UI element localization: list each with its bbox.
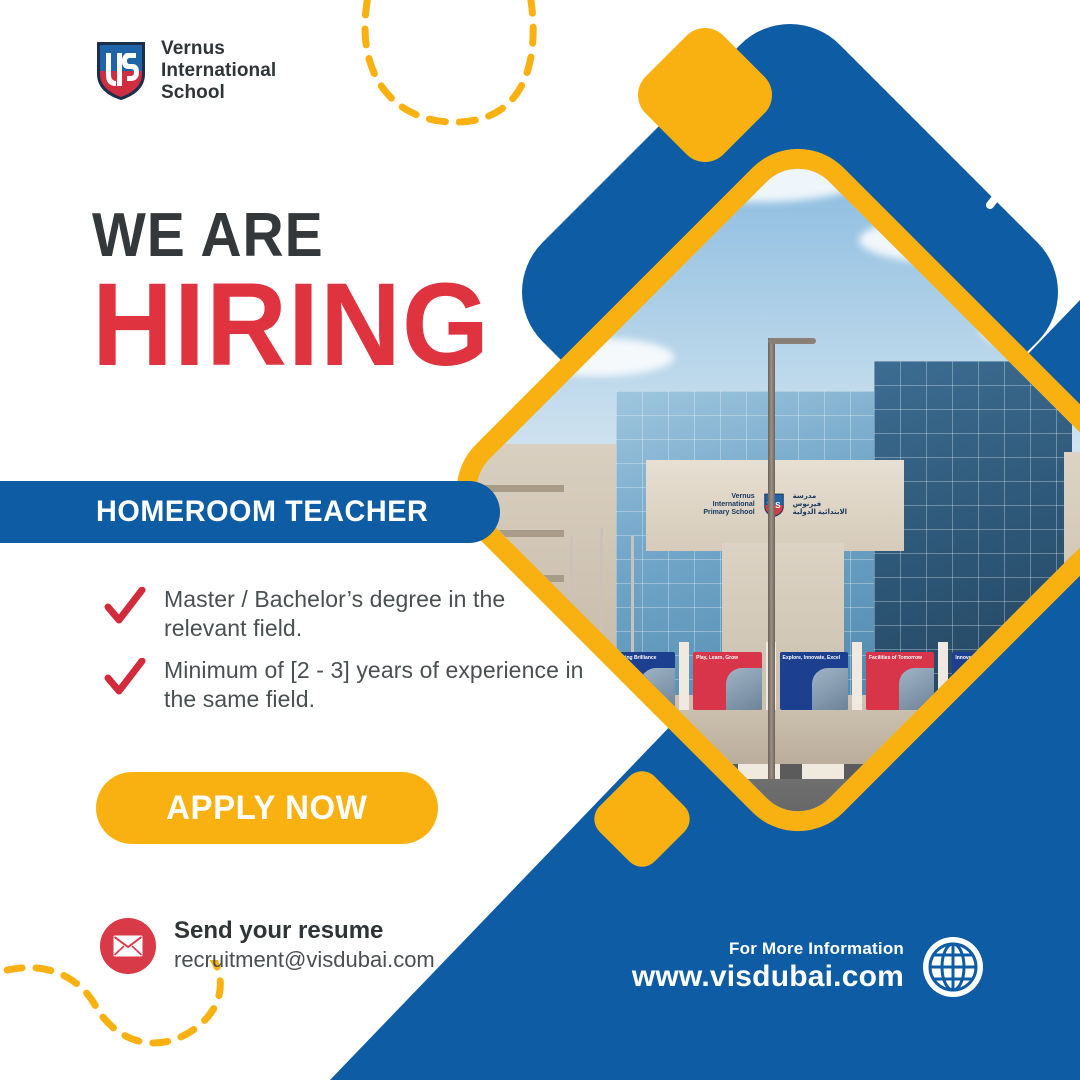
flag-pole (600, 528, 603, 703)
requirements-list: Master / Bachelor’s degree in the releva… (104, 585, 584, 727)
brand-name-line3: School (161, 82, 276, 104)
road (430, 779, 1080, 858)
check-icon (104, 587, 146, 627)
list-item: Master / Bachelor’s degree in the releva… (104, 585, 584, 644)
fence-banner: Innovate, Create, Educate (952, 652, 1020, 711)
globe-icon (922, 936, 984, 998)
brand-name-line2: International (161, 60, 276, 82)
website-contact: For More Information www.visdubai.com (632, 936, 984, 998)
website-label: For More Information (632, 940, 904, 959)
website-texts: For More Information www.visdubai.com (632, 940, 904, 994)
brand-name: Vernus International School (161, 38, 276, 104)
brand-name-line1: Vernus (161, 38, 276, 60)
hiring-poster: Vernus International Primary School VIS … (0, 0, 1080, 1080)
website-url[interactable]: www.visdubai.com (632, 960, 904, 995)
page-title: WE ARE HIRING (92, 205, 511, 382)
brand-logo: VIS Vernus International School (95, 38, 276, 104)
resume-texts: Send your resume recruitment@visdubai.co… (174, 918, 435, 974)
fence-banner: Facilities of Tomorrow (866, 652, 934, 711)
headline-hiring: HIRING (92, 269, 490, 382)
cloud (524, 338, 674, 376)
envelope-glyph (113, 935, 143, 957)
fence-banner: Explore, Innovate, Excel (780, 652, 848, 711)
job-title: HOMEROOM TEACHER (96, 495, 428, 529)
requirement-text: Minimum of [2 - 3] years of experience i… (164, 656, 584, 715)
apply-now-button[interactable]: APPLY NOW (96, 772, 438, 844)
blue-corner-wedge (960, 1000, 1080, 1080)
fence-banner: Play, Learn, Grow (693, 652, 761, 711)
check-icon (104, 658, 146, 698)
road-marking (889, 818, 1080, 841)
flag-pole (631, 536, 634, 703)
fence-banner: Nurturing Brilliance (607, 652, 675, 711)
cloud (646, 140, 876, 202)
envelope-icon (100, 918, 156, 974)
resume-title: Send your resume (174, 918, 435, 944)
resume-contact: Send your resume recruitment@visdubai.co… (100, 918, 435, 974)
signage-english: Vernus International Primary School (703, 493, 754, 517)
street-light-pole (768, 338, 775, 779)
job-title-banner: HOMEROOM TEACHER (0, 481, 500, 543)
dashed-curve-icon (0, 960, 260, 1080)
list-item: Minimum of [2 - 3] years of experience i… (104, 656, 584, 715)
school-signage: Vernus International Primary School VIS … (646, 460, 904, 551)
street-light-arm (768, 338, 816, 344)
requirement-text: Master / Bachelor’s degree in the releva… (164, 585, 584, 644)
headline-we-are: WE ARE (92, 205, 477, 267)
school-photo: Vernus International Primary School VIS … (528, 120, 1068, 860)
apply-now-label: APPLY NOW (166, 789, 367, 828)
cloud (859, 216, 1059, 264)
cloud (980, 308, 1080, 352)
school-photo-scene: Vernus International Primary School VIS … (430, 122, 1080, 857)
signage-arabic: مدرسة فيرنوس الابتدائية الدولية (793, 493, 847, 517)
resume-email[interactable]: recruitment@visdubai.com (174, 946, 435, 974)
vis-shield-icon: VIS (95, 40, 147, 102)
